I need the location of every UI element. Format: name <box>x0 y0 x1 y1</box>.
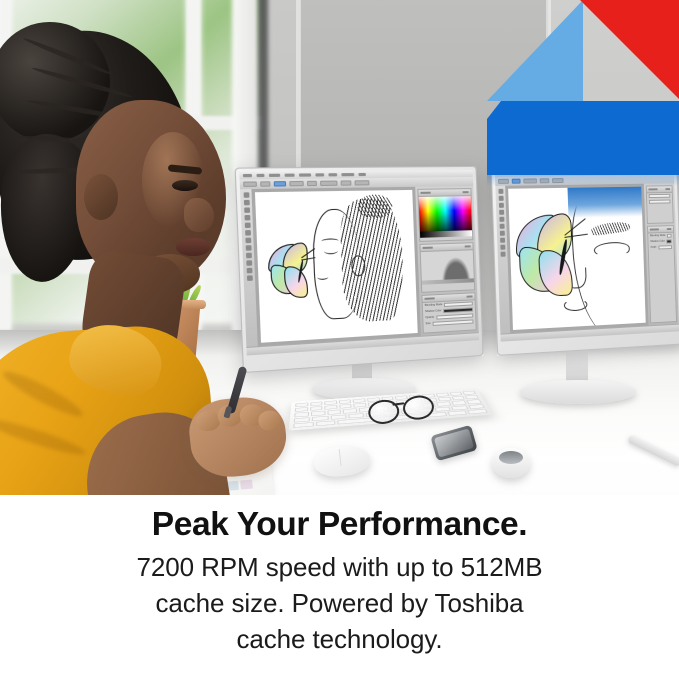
prop-label: Shadow Color <box>650 240 665 243</box>
prop-value[interactable] <box>649 200 671 204</box>
puck-device[interactable] <box>492 448 530 478</box>
histogram-panel[interactable] <box>419 242 475 293</box>
artwork-lips <box>564 298 588 311</box>
canvas-area[interactable] <box>505 184 648 333</box>
monitor-left-app: Blending Mode Shadow Color Opacity Size <box>239 170 479 356</box>
lips <box>176 238 210 256</box>
promo-text-block: Peak Your Performance. 7200 RPM speed wi… <box>0 495 679 679</box>
subcopy-line-3: cache technology. <box>0 621 679 657</box>
canvas-area[interactable] <box>251 187 420 346</box>
nose <box>184 198 214 232</box>
color-picker-panel[interactable] <box>417 188 473 242</box>
prop-label: Size <box>425 323 430 326</box>
subcopy-line-1: 7200 RPM speed with up to 512MB <box>0 549 679 585</box>
right-dock[interactable]: Blending Mode Shadow Color Opacity Size <box>415 186 479 336</box>
monitor-right-app: Blending Mode Shadow Color Angle <box>495 168 679 342</box>
sky-gradient-overlay <box>568 187 642 219</box>
monitor-right-stand-base <box>520 380 636 404</box>
prop-value[interactable] <box>658 245 672 249</box>
prop-value[interactable] <box>667 239 672 243</box>
artwork-canvas[interactable] <box>255 190 418 343</box>
artwork-eye <box>324 247 338 254</box>
prop-label: Blending Mode <box>650 235 666 238</box>
monitor-right: Blending Mode Shadow Color Angle <box>491 164 679 356</box>
layers-panel[interactable]: Blending Mode Shadow Color Opacity Size <box>421 292 476 333</box>
histogram-graph <box>421 250 474 280</box>
subcopy-line-2: cache size. Powered by Toshiba <box>0 585 679 621</box>
prop-value[interactable] <box>649 194 671 198</box>
artwork-butterfly <box>267 242 318 301</box>
artwork-canvas[interactable] <box>508 187 646 330</box>
prop-label: Opacity <box>425 316 434 319</box>
prop-label: Angle <box>650 246 656 249</box>
artwork-lips <box>317 274 328 280</box>
promo-subcopy: 7200 RPM speed with up to 512MB cache si… <box>0 549 679 657</box>
artwork-butterfly <box>515 212 588 301</box>
ear <box>84 174 118 220</box>
promo-banner: Blending Mode Shadow Color Opacity Size <box>0 0 679 679</box>
prop-value[interactable] <box>667 234 671 238</box>
page-title: Peak Your Performance. <box>0 495 679 545</box>
hero-photo: Blending Mode Shadow Color Opacity Size <box>0 0 679 500</box>
artwork-bun <box>358 195 393 219</box>
prop-value[interactable] <box>433 319 474 325</box>
prop-label: Shadow Color <box>425 310 442 314</box>
prop-label: Blending Mode <box>425 304 443 308</box>
portrait-line-art <box>255 190 418 343</box>
properties-panel[interactable]: Blending Mode Shadow Color Angle <box>647 225 677 323</box>
right-dock[interactable]: Blending Mode Shadow Color Angle <box>644 183 679 325</box>
options-panel[interactable] <box>646 185 674 224</box>
color-swatch-gradient[interactable] <box>419 196 472 232</box>
monitor-left: Blending Mode Shadow Color Opacity Size <box>235 166 484 373</box>
artwork-eyebrow <box>322 238 340 244</box>
eye <box>172 180 198 191</box>
